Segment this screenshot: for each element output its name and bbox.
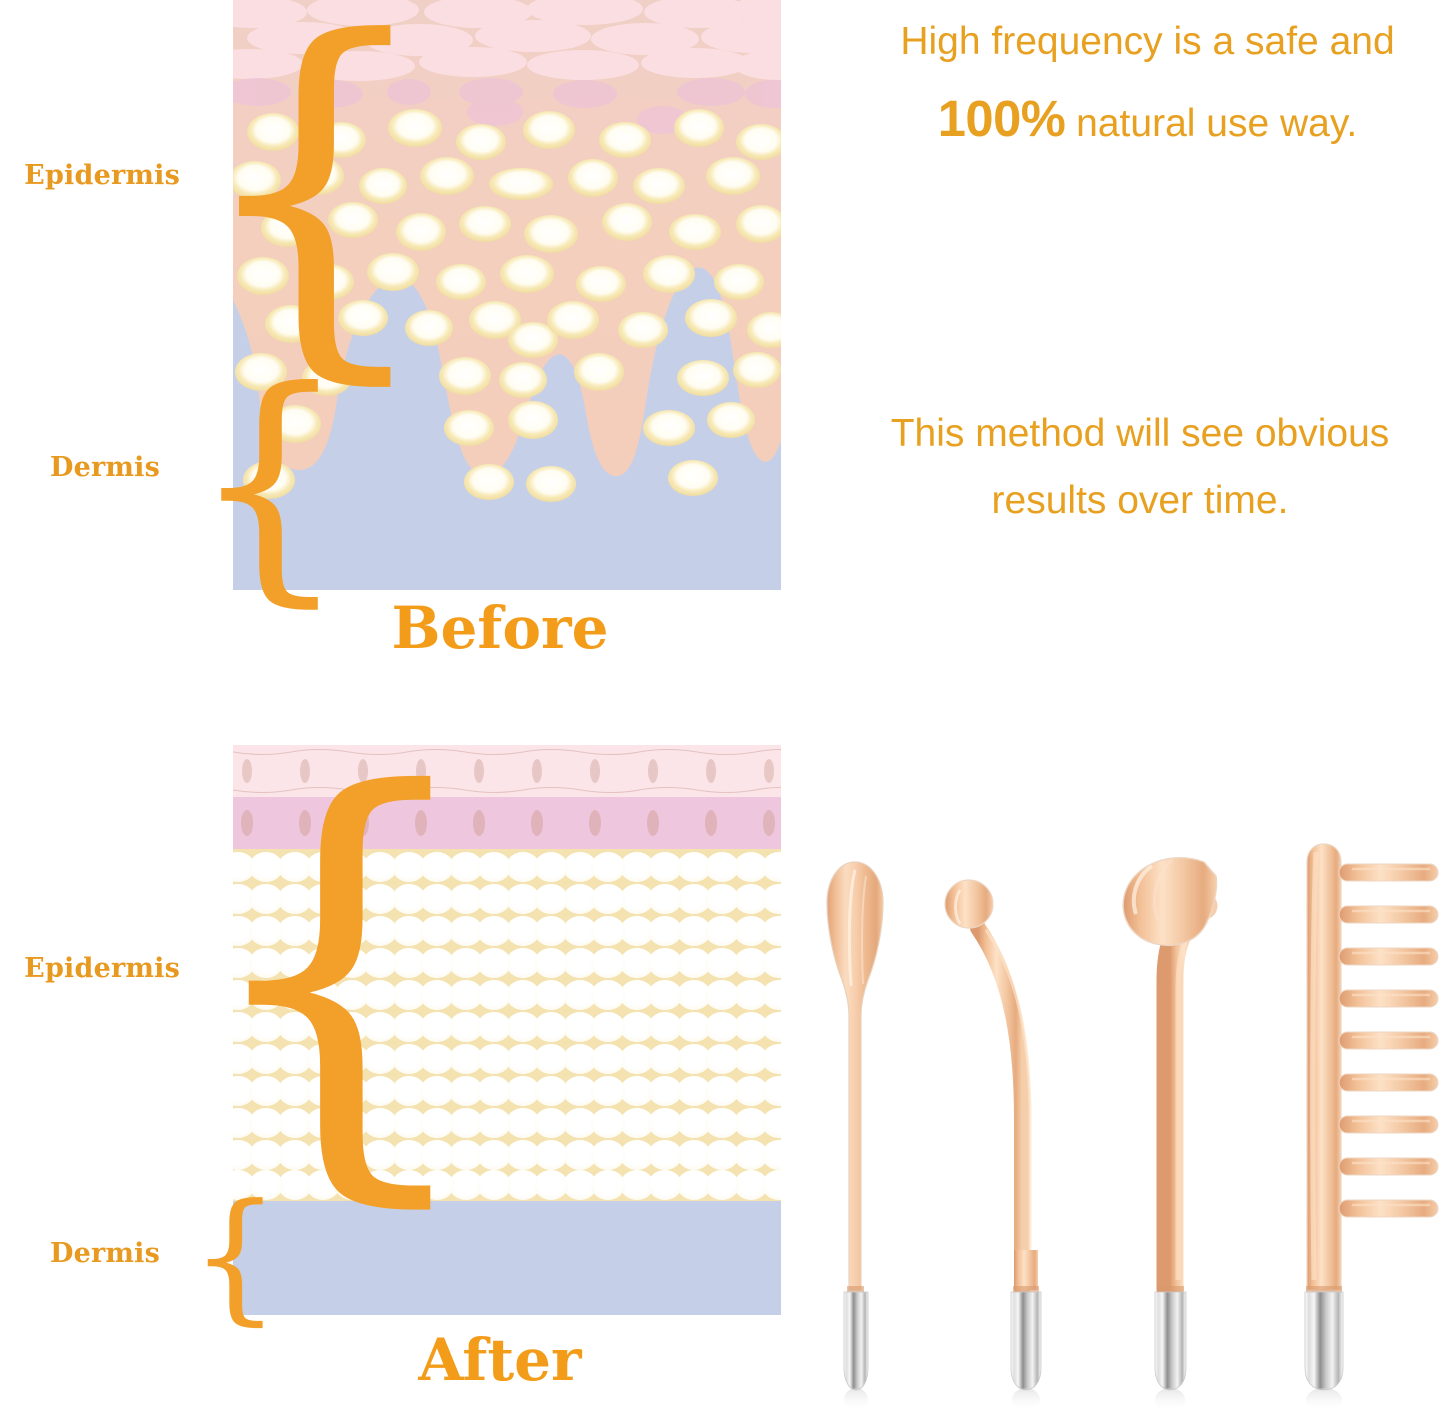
copy-block-1-post: natural use way.	[1065, 102, 1357, 145]
after-diagram: { { Epidermis Dermis After	[0, 720, 800, 1424]
before-epidermis-label: Epidermis	[0, 160, 180, 191]
copy-block-results: This method will see obvious results ove…	[880, 400, 1400, 534]
after-dermis-brace: {	[190, 1186, 234, 1318]
bell-head	[1123, 858, 1216, 946]
metal-base	[1305, 1292, 1343, 1390]
after-dermis-label: Dermis	[0, 1238, 160, 1269]
after-epidermis-label: Epidermis	[0, 953, 180, 984]
metal-base	[1011, 1292, 1041, 1390]
wand-bell-electrode[interactable]	[1123, 858, 1216, 1412]
reflection	[1012, 1388, 1040, 1412]
copy-block-1-highlight: 100%	[938, 90, 1066, 147]
metal-base	[1155, 1292, 1186, 1390]
reflection	[1306, 1388, 1342, 1412]
after-caption: After	[265, 1326, 735, 1394]
product-wands-svg	[800, 820, 1445, 1424]
before-epidermis-brace: {	[190, 0, 234, 372]
copy-block-2-text: This method will see obvious results ove…	[891, 412, 1390, 522]
product-infographic: { { Epidermis Dermis Before	[0, 0, 1445, 1424]
after-epidermis-brace: {	[190, 736, 234, 1196]
ball-tip	[945, 880, 993, 928]
product-wands-group	[800, 820, 1445, 1424]
wand-mushroom-electrode[interactable]	[827, 862, 883, 1412]
before-dermis-brace: {	[190, 358, 234, 590]
before-dermis-label: Dermis	[0, 452, 160, 483]
copy-block-high-frequency: High frequency is a safe and 100% natura…	[880, 8, 1415, 162]
reflection	[1155, 1388, 1185, 1412]
reflection	[844, 1388, 868, 1412]
wand-bent-rod-electrode[interactable]	[945, 880, 1041, 1412]
copy-block-1-pre: High frequency is a safe and	[900, 20, 1394, 63]
before-diagram: { { Epidermis Dermis Before	[0, 0, 800, 700]
before-caption: Before	[265, 594, 735, 662]
metal-base	[844, 1292, 868, 1390]
wand-comb-electrode[interactable]	[1305, 844, 1438, 1412]
